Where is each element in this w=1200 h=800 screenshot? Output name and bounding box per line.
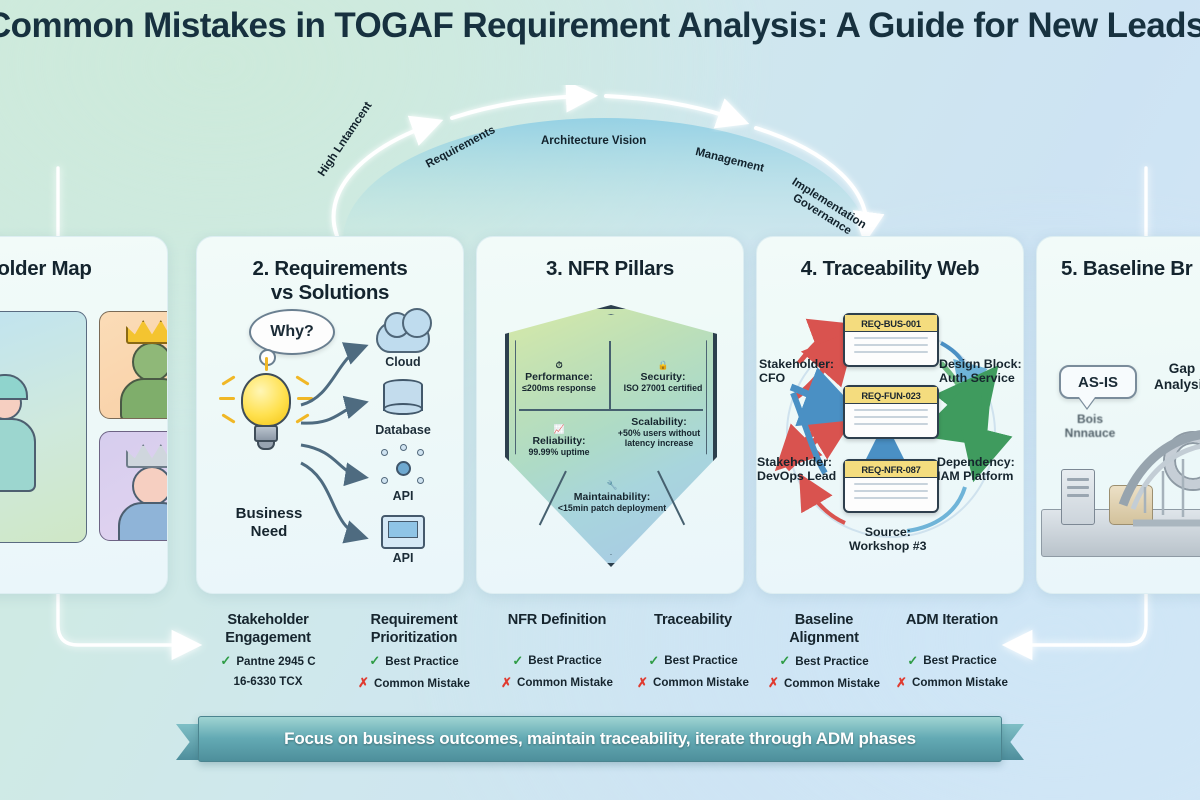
- footer-good-5: ✓ Best Practice: [756, 653, 892, 669]
- requirement-id-fun: REQ-FUN-023: [845, 387, 937, 404]
- solution-cloud: Cloud: [365, 321, 441, 369]
- footer-good-text-4: Best Practice: [664, 654, 737, 667]
- chart-icon: 📈: [515, 425, 603, 434]
- footer-col-baseline-alignment: Baseline Alignment ✓ Best Practice ✗ Com…: [756, 612, 892, 691]
- card-3-title: 3. NFR Pillars: [477, 257, 743, 281]
- footer-heading-2-line1: Requirement: [370, 612, 457, 628]
- footer-bad-3: ✗ Common Mistake: [488, 675, 626, 691]
- annotation-cfo-line2: CFO: [759, 371, 785, 385]
- crown-icon-silver: [126, 444, 168, 468]
- nfr-maintainability-name: Maintainability:: [557, 492, 667, 504]
- annotation-source-workshop: Source: Workshop #3: [849, 525, 927, 554]
- footer-heading-6: ADM Iteration: [882, 612, 1022, 630]
- gap-label-line2: Analysis: [1154, 377, 1200, 392]
- stakeholder-cell-high-power-blue: [99, 431, 168, 541]
- card-baseline-bridge[interactable]: 5. Baseline Br AS-IS Gap Analysis: [1036, 236, 1200, 594]
- page-title-band: Common Mistakes in TOGAF Requirement Ana…: [0, 0, 1200, 62]
- cross-icon: ✗: [637, 675, 648, 691]
- gap-analysis-label: Gap Analysis: [1141, 361, 1200, 393]
- footer-bad-5: ✗ Common Mistake: [756, 675, 892, 691]
- cross-icon: ✗: [768, 675, 779, 691]
- cross-icon: ✗: [501, 675, 512, 691]
- check-icon: ✓: [512, 653, 523, 669]
- database-icon: [383, 379, 423, 421]
- footer-bad-2: ✗ Common Mistake: [344, 675, 484, 691]
- baseline-blur-line1: Bois: [1077, 412, 1103, 426]
- shield-divider-h: [519, 409, 703, 411]
- check-icon: ✓: [220, 653, 231, 669]
- gauge-icon: ⏱: [511, 361, 607, 370]
- footer-bad-4: ✗ Common Mistake: [626, 675, 760, 691]
- footer-good-4: ✓ Best Practice: [626, 653, 760, 669]
- crown-icon-gold: [126, 320, 168, 344]
- summary-banner-text: Focus on business outcomes, maintain tra…: [284, 729, 916, 749]
- wrench-icon: 🔧: [557, 481, 667, 490]
- footer-bad-6: ✗ Common Mistake: [882, 675, 1022, 691]
- footer-bad-text-5: Common Mistake: [784, 677, 880, 690]
- requirement-card-nfr[interactable]: REQ-NFR-087: [843, 459, 939, 513]
- nfr-performance: ⏱ Performance: ≤200ms response: [511, 361, 607, 393]
- requirement-id-bus: REQ-BUS-001: [845, 315, 937, 332]
- baseline-blurred-label: Bois Nnnauce: [1043, 413, 1137, 441]
- nfr-performance-name: Performance:: [511, 372, 607, 384]
- annotation-devops-line1: Stakeholder:: [757, 455, 832, 469]
- page-title: Common Mistakes in TOGAF Requirement Ana…: [0, 6, 1200, 46]
- baseline-blur-line2: Nnnauce: [1065, 426, 1116, 440]
- solution-api-box: API: [365, 515, 441, 565]
- cross-icon: ✗: [358, 675, 369, 691]
- footer-good-text-3: Best Practice: [528, 654, 601, 667]
- annotation-stakeholder-cfo: Stakeholder: CFO: [759, 357, 834, 386]
- cloud-icon: [376, 321, 430, 353]
- card-traceability-web[interactable]: 4. Traceability Web RE: [756, 236, 1024, 594]
- footer-bad-text-4: Common Mistake: [653, 676, 749, 689]
- nfr-maintainability: 🔧 Maintainability: <15min patch deployme…: [557, 481, 667, 513]
- footer-bad-text-2: Common Mistake: [374, 677, 470, 690]
- footer-good-1: ✓ Pantne 2945 C: [198, 653, 338, 669]
- nfr-scalability-name: Scalability:: [609, 417, 709, 429]
- solution-label-database: Database: [365, 423, 441, 437]
- solution-label-api-1: API: [365, 489, 441, 503]
- annotation-design-block: Design Block: Auth Service: [939, 357, 1022, 386]
- annotation-source-line1: Source:: [865, 525, 911, 539]
- nfr-security: 🔒 Security: ISO 27001 certified: [615, 361, 711, 393]
- summary-banner-wrap: Focus on business outcomes, maintain tra…: [176, 716, 1024, 768]
- footer-heading-5: Baseline Alignment: [756, 612, 892, 647]
- lock-icon: 🔒: [615, 361, 711, 370]
- api-network-icon: [381, 449, 425, 487]
- check-icon: ✓: [779, 653, 790, 669]
- cards-row: keholder Map: [0, 236, 1200, 594]
- footer-good-6: ✓ Best Practice: [882, 653, 1022, 669]
- footer-good-text-6: Best Practice: [923, 654, 996, 667]
- annotation-dependency: Dependency: IAM Platform: [937, 455, 1015, 484]
- footer-bad-text-6: Common Mistake: [912, 676, 1008, 689]
- requirement-card-bus[interactable]: REQ-BUS-001: [843, 313, 939, 367]
- annotation-source-line2: Workshop #3: [849, 539, 927, 553]
- footer-col-traceability: Traceability ✓ Best Practice ✗ Common Mi…: [626, 612, 760, 691]
- requirement-card-fun[interactable]: REQ-FUN-023: [843, 385, 939, 439]
- nfr-security-value: ISO 27001 certified: [615, 384, 711, 394]
- footer-heading-1-line1: Stakeholder: [227, 612, 308, 628]
- stakeholder-cell-low-power: [0, 311, 87, 543]
- footer-bad-1: 16-6330 TCX: [198, 675, 338, 688]
- stakeholder-cell-high-power-green: [99, 311, 168, 419]
- footer-heading-1: Stakeholder Engagement: [198, 612, 338, 647]
- nfr-maintainability-value: <15min patch deployment: [557, 504, 667, 514]
- annotation-design-line2: Auth Service: [939, 371, 1015, 385]
- footer-col-requirement-prioritization: Requirement Prioritization ✓ Best Practi…: [344, 612, 484, 691]
- nfr-shield: ⏱ Performance: ≤200ms response 🔒 Securit…: [505, 305, 717, 567]
- as-is-callout: AS-IS: [1059, 365, 1137, 399]
- nfr-scalability: Scalability: +50% users without latency …: [609, 417, 709, 448]
- footer-good-3: ✓ Best Practice: [488, 653, 626, 669]
- check-icon: ✓: [648, 653, 659, 669]
- annotation-devops-line2: DevOps Lead: [757, 469, 836, 483]
- annotation-design-line1: Design Block:: [939, 357, 1022, 371]
- cross-icon: ✗: [896, 675, 907, 691]
- stakeholder-quadrant-grid: w Power High Power: [0, 311, 168, 543]
- solution-database: Database: [365, 379, 441, 437]
- card-requirements-vs-solutions[interactable]: 2. Requirements vs Solutions Why? Busine…: [196, 236, 464, 594]
- footer-col-nfr-definition: NFR Definition ✓ Best Practice ✗ Common …: [488, 612, 626, 691]
- footer-col-stakeholder-engagement: Stakeholder Engagement ✓ Pantne 2945 C 1…: [198, 612, 338, 688]
- footer-good-text-1: Pantne 2945 C: [236, 655, 315, 668]
- footer-heading-2: Requirement Prioritization: [344, 612, 484, 647]
- footer-col-adm-iteration: ADM Iteration ✓ Best Practice ✗ Common M…: [882, 612, 1022, 691]
- footer-heading-4: Traceability: [626, 612, 760, 630]
- nfr-reliability: 📈 Reliability: 99.99% uptime: [515, 425, 603, 457]
- check-icon: ✓: [907, 653, 918, 669]
- summary-banner: Focus on business outcomes, maintain tra…: [198, 716, 1002, 762]
- practices-footer: Stakeholder Engagement ✓ Pantne 2945 C 1…: [0, 612, 1200, 700]
- nfr-reliability-name: Reliability:: [515, 436, 603, 448]
- card-nfr-pillars[interactable]: 3. NFR Pillars ⏱ Performance: ≤200ms res…: [476, 236, 744, 594]
- solution-label-api-2: API: [365, 551, 441, 565]
- nfr-scalability-value: +50% users without latency increase: [609, 429, 709, 449]
- check-icon: ✓: [369, 653, 380, 669]
- footer-heading-1-line2: Engagement: [225, 630, 311, 646]
- solution-api-network: API: [365, 449, 441, 503]
- card-1-title: keholder Map: [0, 257, 167, 281]
- card-stakeholder-map[interactable]: keholder Map: [0, 236, 168, 594]
- footer-heading-3: NFR Definition: [488, 612, 626, 630]
- footer-good-text-5: Best Practice: [795, 655, 868, 668]
- requirement-id-nfr: REQ-NFR-087: [845, 461, 937, 478]
- footer-heading-2-line2: Prioritization: [371, 630, 457, 646]
- footer-bad-text-1: 16-6330 TCX: [234, 675, 303, 688]
- solution-label-cloud: Cloud: [365, 355, 441, 369]
- footer-good-2: ✓ Best Practice: [344, 653, 484, 669]
- footer-good-text-2: Best Practice: [385, 655, 458, 668]
- footer-bad-text-3: Common Mistake: [517, 676, 613, 689]
- annotation-cfo-line1: Stakeholder:: [759, 357, 834, 371]
- annotation-dependency-line2: IAM Platform: [937, 469, 1013, 483]
- annotation-dependency-line1: Dependency:: [937, 455, 1015, 469]
- nfr-reliability-value: 99.99% uptime: [515, 448, 603, 458]
- api-box-icon: [381, 515, 425, 549]
- shield-divider-v-top: [609, 341, 611, 411]
- nfr-security-name: Security:: [615, 372, 711, 384]
- footer-heading-5-line1: Baseline: [795, 612, 853, 628]
- footer-heading-5-line2: Alignment: [789, 630, 859, 646]
- annotation-stakeholder-devops: Stakeholder: DevOps Lead: [757, 455, 836, 484]
- nfr-performance-value: ≤200ms response: [511, 384, 607, 394]
- gap-label-line1: Gap: [1169, 361, 1195, 376]
